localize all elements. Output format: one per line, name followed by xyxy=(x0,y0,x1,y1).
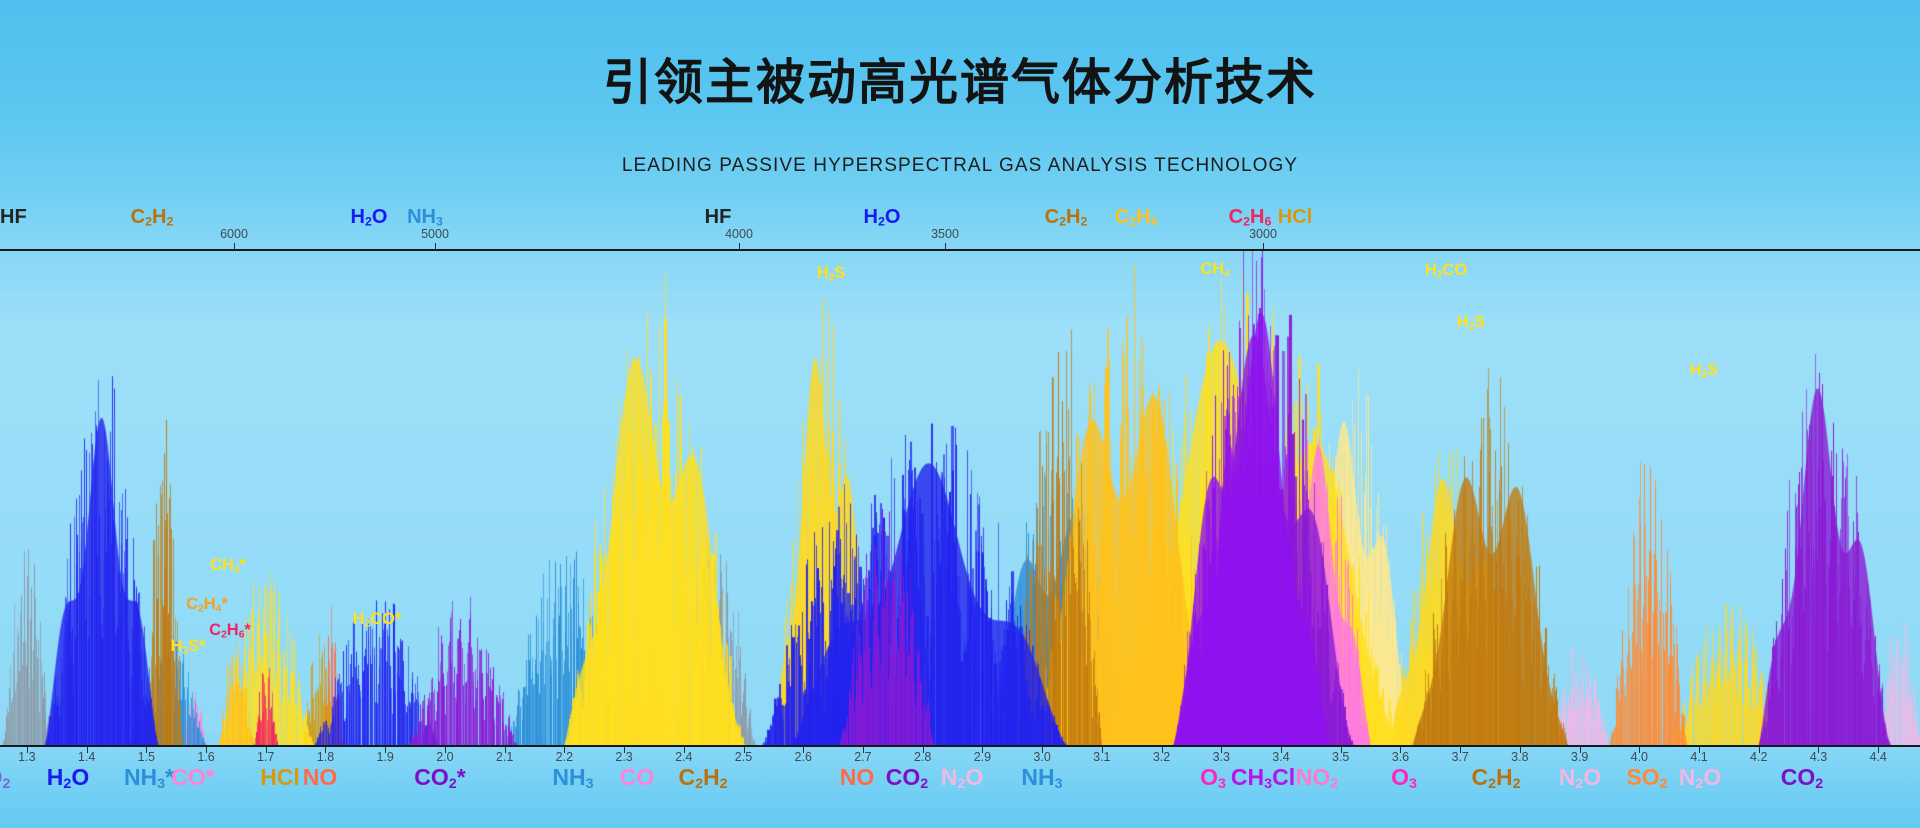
bottom-gas-label-c2h2: C2H2 xyxy=(1471,766,1520,791)
hyperspectral-banner: 引领主被动高光谱气体分析技术 LEADING PASSIVE HYPERSPEC… xyxy=(0,0,1920,828)
top-axis-tick-label: 6000 xyxy=(220,227,248,241)
plot-gas-label-c2h4star: C2H4* xyxy=(186,596,228,614)
top-gas-label-h2o: H2O xyxy=(864,207,901,228)
top-axis-tick-label: 4000 xyxy=(725,227,753,241)
bottom-axis-tick-label: 4.4 xyxy=(1869,750,1886,764)
plot-gas-label-h2s: H2S xyxy=(817,265,846,283)
bottom-gas-label-n2o: N2O xyxy=(1559,766,1601,791)
top-axis-tick xyxy=(945,243,946,249)
plot-gas-label-ch4: CH4 xyxy=(1200,261,1230,279)
bottom-gas-label-ch3cl: CH3Cl xyxy=(1231,766,1295,791)
bottom-axis-tick-label: 3.3 xyxy=(1213,750,1230,764)
bottom-axis-tick-label: 3.6 xyxy=(1392,750,1409,764)
spectrum-inline-annotations: CH4*C2H4*C2H6*H2S*H2CO*CH4H2SCH4H2COH2SH… xyxy=(0,251,1920,745)
bottom-gas-label-costar: CO* xyxy=(171,766,214,789)
bottom-axis-tick-label: 3.8 xyxy=(1511,750,1528,764)
bottom-axis-tick-label: 4.2 xyxy=(1750,750,1767,764)
top-axis-line xyxy=(0,249,1920,251)
bottom-gas-label-hcl: HCl xyxy=(260,766,300,789)
bottom-gas-label-so2: SO2 xyxy=(1626,766,1667,791)
top-gas-label-hcl: HCl xyxy=(1278,207,1312,227)
bottom-axis-tick-label: 3.1 xyxy=(1093,750,1110,764)
bottom-axis-tick-label: 1.7 xyxy=(257,750,274,764)
bottom-axis-tick-label: 1.8 xyxy=(317,750,334,764)
top-axis-tick xyxy=(234,243,235,249)
top-gas-label-c2h6: C2H6 xyxy=(1229,207,1272,228)
bottom-axis-line xyxy=(0,745,1920,747)
bottom-axis-tick-label: 2.6 xyxy=(795,750,812,764)
bottom-axis-tick-label: 1.6 xyxy=(197,750,214,764)
top-axis-tick-label: 3000 xyxy=(1249,227,1277,241)
bottom-axis-tick-label: 2.0 xyxy=(436,750,453,764)
bottom-axis-tick-label: 2.7 xyxy=(854,750,871,764)
top-gas-label-hf: HF xyxy=(705,207,732,227)
top-axis-tick xyxy=(739,243,740,249)
bottom-gas-label-co2: CO2 xyxy=(0,766,10,791)
top-axis-tick xyxy=(1263,243,1264,249)
bottom-axis-tick-label: 3.2 xyxy=(1153,750,1170,764)
bottom-axis-tick-label: 4.0 xyxy=(1631,750,1648,764)
bottom-axis-tick-label: 2.9 xyxy=(974,750,991,764)
plot-gas-label-h2co: H2CO xyxy=(1425,262,1467,280)
top-axis-tick-label: 5000 xyxy=(421,227,449,241)
bottom-gas-label-co: CO xyxy=(620,766,655,789)
bottom-gas-label-co2: CO2 xyxy=(886,766,928,791)
bottom-axis-tick-label: 2.5 xyxy=(735,750,752,764)
bottom-gas-label-o3: O3 xyxy=(1200,766,1226,791)
top-gas-label-nh3: NH3 xyxy=(407,207,443,228)
bottom-gas-label-h2o: H2O xyxy=(47,766,89,791)
bottom-gas-label-no: NO xyxy=(303,766,338,789)
bottom-gas-label-n2o: N2O xyxy=(941,766,983,791)
top-axis-tick-label: 3500 xyxy=(931,227,959,241)
bottom-axis-tick-label: 4.3 xyxy=(1810,750,1827,764)
bottom-axis-tick-label: 2.2 xyxy=(556,750,573,764)
plot-gas-label-h2sstar: H2S* xyxy=(170,638,205,656)
bottom-gas-label-no: NO xyxy=(840,766,875,789)
bottom-axis-tick-label: 3.0 xyxy=(1033,750,1050,764)
bottom-gas-label-no2: NO2 xyxy=(1296,766,1338,791)
plot-gas-label-c2h6star: C2H6* xyxy=(209,622,251,640)
bottom-axis-tick-label: 3.5 xyxy=(1332,750,1349,764)
page-subtitle: LEADING PASSIVE HYPERSPECTRAL GAS ANALYS… xyxy=(0,155,1920,177)
bottom-axis-tick-label: 2.4 xyxy=(675,750,692,764)
bottom-axis-tick-label: 1.3 xyxy=(18,750,35,764)
plot-gas-label-ch4: CH4 xyxy=(636,479,666,497)
bottom-axis-tick-label: 2.1 xyxy=(496,750,513,764)
bottom-axis-tick-label: 3.7 xyxy=(1451,750,1468,764)
bottom-gas-label-n2o: N2O xyxy=(1679,766,1721,791)
bottom-axis-tick-label: 4.1 xyxy=(1690,750,1707,764)
bottom-gas-label-nh3: NH3 xyxy=(552,766,593,791)
bottom-gas-label-o3: O3 xyxy=(1391,766,1417,791)
bottom-axis-tick-label: 1.5 xyxy=(138,750,155,764)
bottom-gas-label-nh3star: NH3* xyxy=(124,766,174,791)
plot-gas-label-h2s: H2S xyxy=(1690,362,1719,380)
bottom-axis-tick-label: 3.9 xyxy=(1571,750,1588,764)
bottom-gas-label-nh3: NH3 xyxy=(1021,766,1062,791)
top-gas-label-c2h2: C2H2 xyxy=(1045,207,1088,228)
bottom-axis-tick-label: 2.8 xyxy=(914,750,931,764)
bottom-gas-label-co2star: CO2* xyxy=(414,766,465,791)
top-axis-tick xyxy=(435,243,436,249)
bottom-axis-tick-label: 2.3 xyxy=(615,750,632,764)
plot-gas-label-h2costar: H2CO* xyxy=(353,611,402,629)
bottom-axis-tick-label: 3.4 xyxy=(1272,750,1289,764)
page-title: 引领主被动高光谱气体分析技术 xyxy=(0,56,1920,110)
bottom-gas-label-c2h2: C2H2 xyxy=(678,766,727,791)
plot-gas-label-ch4star: CH4* xyxy=(210,557,246,575)
top-gas-label-c2h2: C2H2 xyxy=(131,207,174,228)
bottom-axis-tick-label: 1.4 xyxy=(78,750,95,764)
plot-gas-label-h2s: H2S xyxy=(1457,314,1486,332)
top-gas-label-c2h4: C2H4 xyxy=(1115,207,1158,228)
top-gas-label-h2o: H2O xyxy=(351,207,388,228)
top-gas-label-hf: HF xyxy=(0,207,27,227)
bottom-gas-label-co2: CO2 xyxy=(1781,766,1823,791)
spectrum-plot: CH4*C2H4*C2H6*H2S*H2CO*CH4H2SCH4H2COH2SH… xyxy=(0,251,1920,745)
bottom-axis-tick-label: 1.9 xyxy=(376,750,393,764)
